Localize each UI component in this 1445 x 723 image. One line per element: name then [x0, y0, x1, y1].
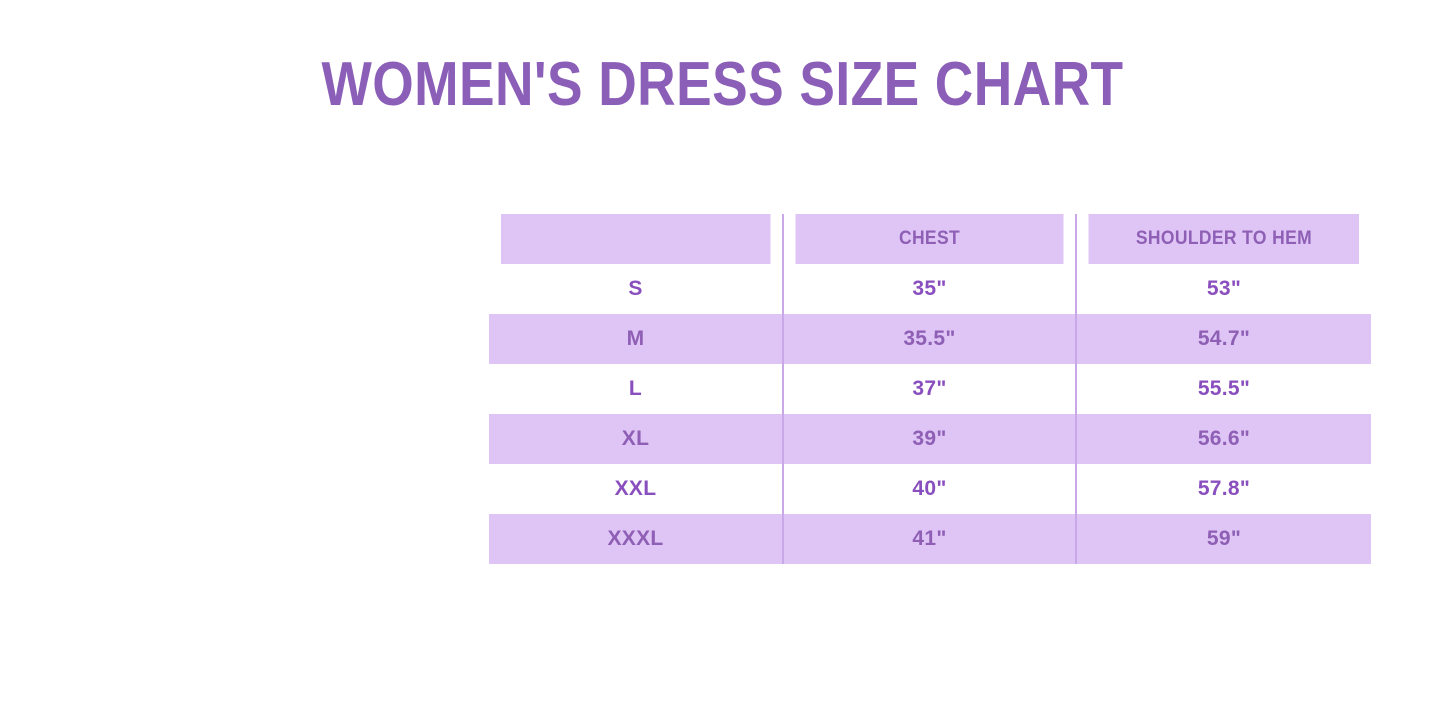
column-header-shoulder-to-hem: SHOULDER TO HEM [1088, 214, 1359, 264]
column-header-chest: CHEST [795, 214, 1065, 264]
cell-size: XL [489, 414, 783, 464]
table-row: XXXL 41" 59" [489, 514, 1371, 564]
cell-chest: 35.5" [783, 314, 1076, 364]
table-row: S 35" 53" [489, 264, 1371, 314]
cell-chest: 41" [783, 514, 1076, 564]
cell-shoulder-to-hem: 55.5" [1076, 364, 1371, 414]
column-header-size [501, 214, 771, 264]
size-chart-table: CHEST SHOULDER TO HEM S 35" 53" M 35.5" … [489, 214, 1371, 564]
cell-chest: 39" [783, 414, 1076, 464]
cell-size: L [489, 364, 783, 414]
cell-size: XXL [489, 464, 783, 514]
table-row: XL 39" 56.6" [489, 414, 1371, 464]
table-row: XXL 40" 57.8" [489, 464, 1371, 514]
cell-size: XXXL [489, 514, 783, 564]
cell-chest: 40" [783, 464, 1076, 514]
cell-shoulder-to-hem: 53" [1076, 264, 1371, 314]
size-chart-container: CHEST SHOULDER TO HEM S 35" 53" M 35.5" … [489, 214, 1371, 566]
table-header-row: CHEST SHOULDER TO HEM [489, 214, 1371, 264]
cell-shoulder-to-hem: 54.7" [1076, 314, 1371, 364]
cell-size: S [489, 264, 783, 314]
page-title: WOMEN'S DRESS SIZE CHART [101, 52, 1344, 117]
cell-shoulder-to-hem: 59" [1076, 514, 1371, 564]
table-row: M 35.5" 54.7" [489, 314, 1371, 364]
cell-chest: 35" [783, 264, 1076, 314]
cell-shoulder-to-hem: 56.6" [1076, 414, 1371, 464]
cell-chest: 37" [783, 364, 1076, 414]
table-row: L 37" 55.5" [489, 364, 1371, 414]
cell-shoulder-to-hem: 57.8" [1076, 464, 1371, 514]
cell-size: M [489, 314, 783, 364]
